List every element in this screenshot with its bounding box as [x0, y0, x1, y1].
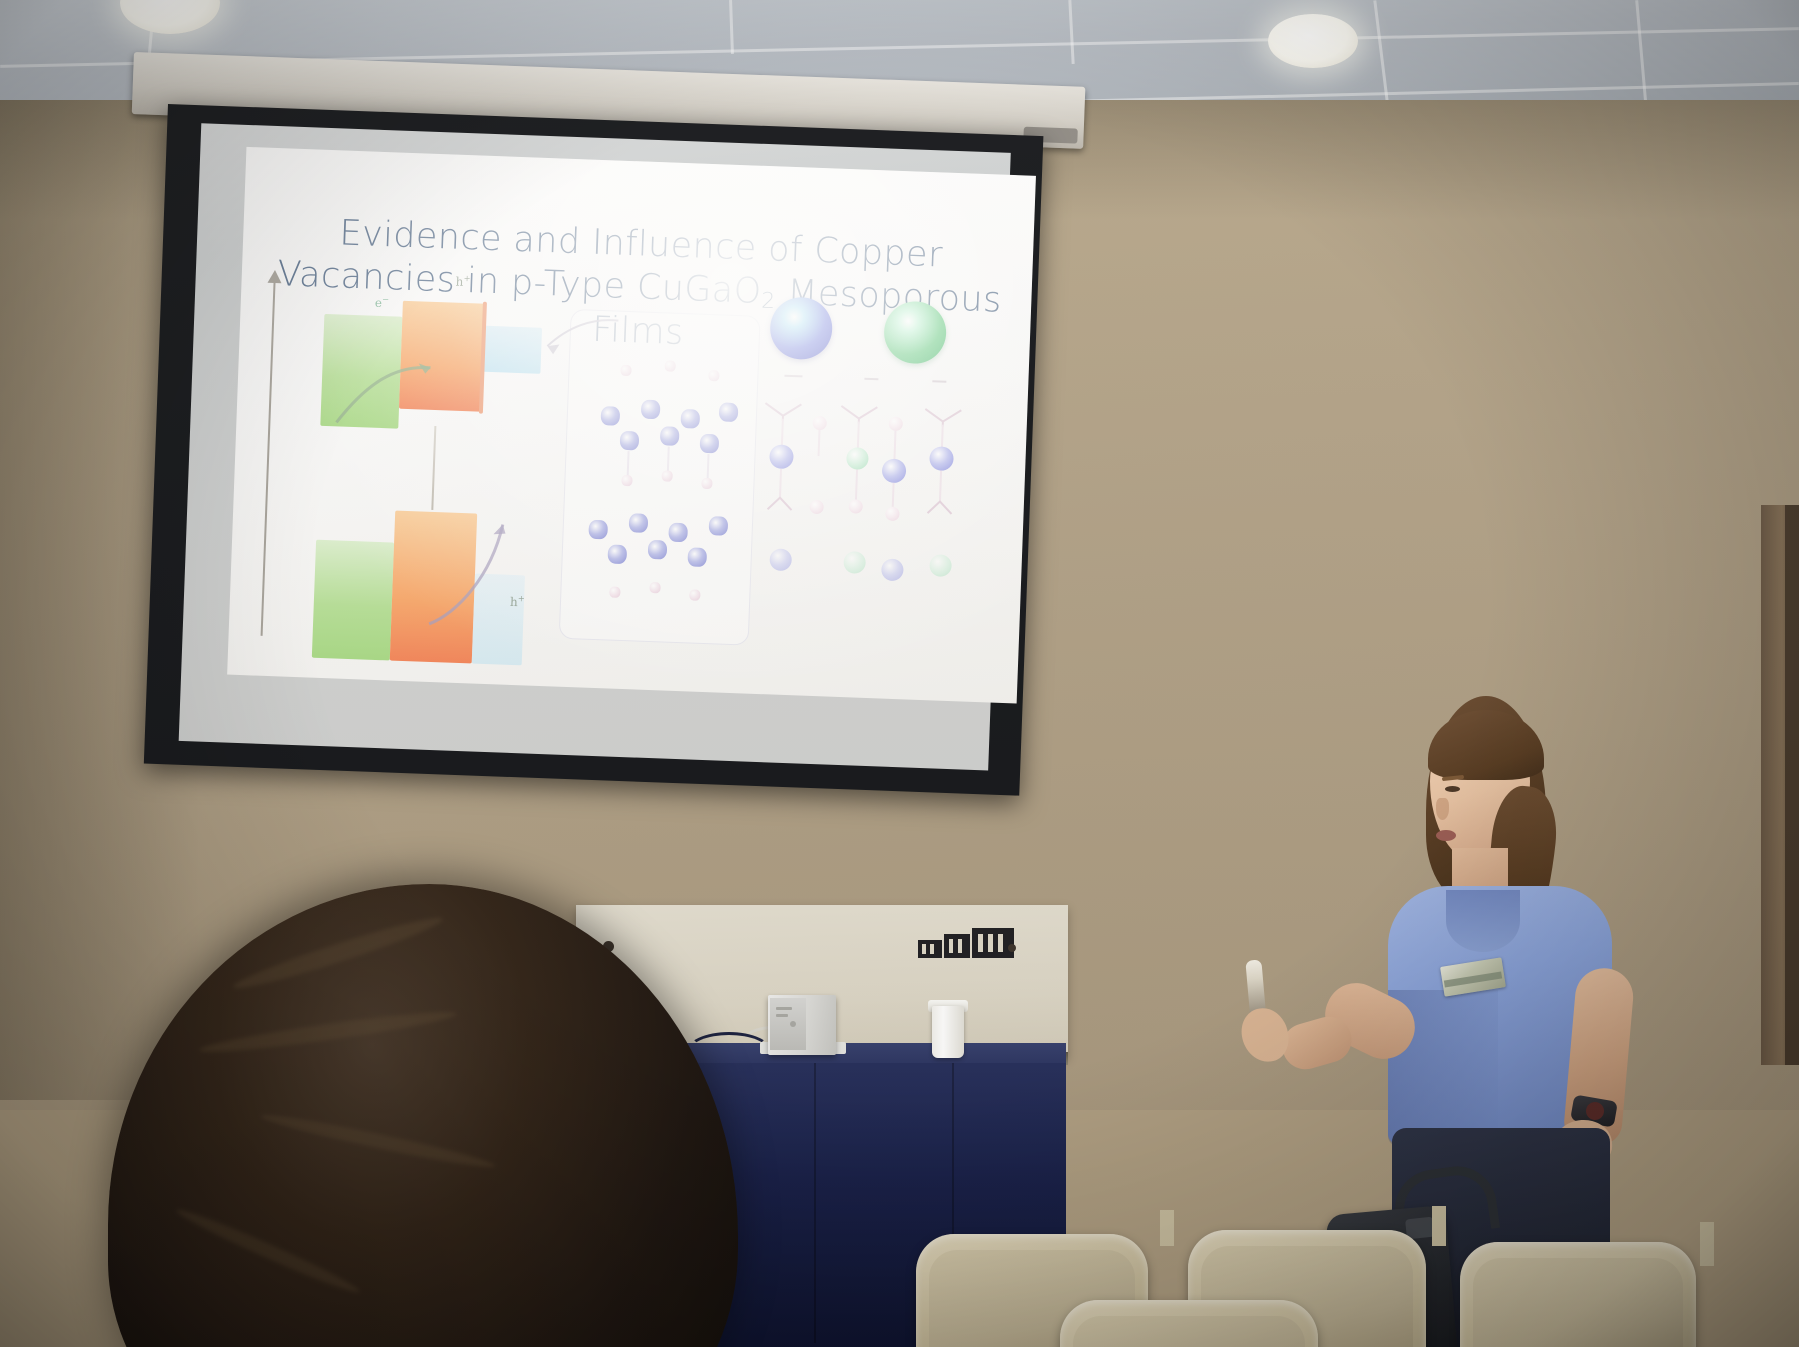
lattice-node-cu: [668, 523, 688, 543]
gallium-legend-sphere: [883, 300, 947, 364]
lattice-node-cu: [620, 431, 640, 451]
lattice-node-cu: [660, 426, 680, 446]
structure-bond: [893, 431, 896, 461]
structure-bond: [855, 469, 858, 499]
lattice-node-cu: [648, 540, 668, 560]
chair-cushion: [1073, 1316, 1305, 1347]
structure-atom-ga: [929, 554, 952, 577]
lattice-node-cu: [607, 544, 627, 564]
lattice-node-o: [701, 478, 712, 489]
ceiling-grid-line: [1068, 0, 1074, 64]
logo-window: [949, 939, 953, 953]
control-box[interactable]: [768, 995, 836, 1055]
crystal-lattice-inset: [559, 309, 761, 646]
structure-atom-cu: [882, 458, 907, 483]
callout-pointer-icon: [541, 312, 623, 361]
chair[interactable]: [1060, 1300, 1318, 1347]
structure-bond: [939, 471, 942, 501]
hole-label-bottom: h+: [510, 593, 525, 610]
lattice-node-cu: [601, 406, 621, 426]
table-skirt-fold: [814, 1063, 816, 1343]
ceiling-grid-line: [729, 0, 734, 54]
chair-cushion: [1473, 1258, 1683, 1347]
structure-bond: [892, 483, 895, 507]
presenter-hair-front: [1428, 710, 1544, 780]
hole-transfer-arrow-icon: [413, 507, 538, 641]
projection-screen-surface: Evidence and Influence of Copper Vacanci…: [179, 123, 1011, 770]
delafossite-structure-figure: [736, 285, 1027, 665]
hair-strand: [198, 1006, 458, 1058]
chair-leg: [1700, 1222, 1714, 1266]
energy-axis-arrow-icon: [268, 270, 282, 284]
hair-strand: [259, 1109, 497, 1173]
structure-atom-o: [889, 417, 904, 432]
structure-atom-cu: [881, 558, 904, 581]
projection-screen-frame: Evidence and Influence of Copper Vacanci…: [144, 104, 1044, 796]
lattice-node-cu: [641, 400, 661, 420]
photograph-scene: Evidence and Influence of Copper Vacanci…: [0, 0, 1799, 1347]
lattice-node-cu: [719, 402, 739, 422]
door-panel[interactable]: [1785, 505, 1799, 1065]
legend-dash: [932, 380, 946, 383]
structure-atom-o: [885, 507, 900, 522]
logo-block: [944, 934, 970, 958]
structure-atom-ga: [843, 551, 866, 574]
logo-window: [930, 944, 934, 954]
energy-axis-line: [261, 276, 276, 636]
control-box-vent: [776, 1014, 788, 1017]
lattice-node-cu: [687, 547, 707, 567]
hair-strand: [174, 1204, 362, 1298]
structure-bond: [779, 469, 782, 497]
ceiling-light-icon: [120, 0, 220, 34]
lattice-node-cu: [680, 409, 700, 429]
chair-leg: [1160, 1210, 1174, 1246]
structure-atom-o: [812, 416, 827, 431]
structure-atom-cu: [769, 548, 792, 571]
lattice-node-o: [665, 360, 676, 371]
hole-label-top: h+: [455, 273, 470, 290]
lattice-node-cu: [588, 520, 608, 540]
coffee-cup: [932, 1006, 964, 1058]
building-logo: [918, 926, 1014, 958]
lattice-node-o: [620, 365, 631, 376]
structure-bond: [941, 425, 944, 449]
control-box-port: [790, 1021, 796, 1027]
presenter-nose: [1436, 798, 1449, 820]
structure-atom-o: [809, 500, 824, 515]
band-block-green-lower: [312, 540, 394, 661]
structure-atom-cu: [769, 444, 794, 469]
structure-bond: [818, 430, 821, 456]
lattice-node-cu: [629, 513, 649, 533]
presenter-mouth: [1436, 830, 1456, 841]
logo-window: [988, 934, 993, 952]
structure-atom-o: [848, 499, 863, 514]
lattice-node-o: [689, 589, 700, 600]
oxygen-tripod-icon: [925, 498, 954, 517]
ceiling-grid-line: [1635, 0, 1648, 110]
legend-dash: [864, 378, 878, 381]
logo-window: [978, 934, 983, 952]
lattice-node-o: [621, 475, 632, 486]
energy-band-diagram: e− h+ h+: [236, 265, 540, 665]
lattice-node-o: [708, 370, 719, 381]
lattice-node-cu: [709, 516, 729, 536]
legend-dash: [784, 375, 802, 378]
control-box-vent: [776, 1007, 792, 1010]
logo-window: [958, 939, 962, 953]
structure-bond: [781, 419, 784, 447]
presenter-eye: [1445, 786, 1460, 792]
lattice-node-o: [662, 470, 673, 481]
electron-transfer-arrow-icon: [318, 304, 513, 439]
lattice-node-o: [609, 587, 620, 598]
control-box-face: [770, 998, 806, 1050]
lattice-node-o: [649, 582, 660, 593]
presentation-slide: Evidence and Influence of Copper Vacanci…: [227, 147, 1036, 704]
oxygen-tripod-icon: [765, 494, 794, 513]
chair-leg: [1432, 1206, 1446, 1246]
lattice-node-cu: [700, 434, 720, 454]
copper-legend-sphere: [769, 296, 833, 360]
logo-window: [922, 944, 926, 954]
chair[interactable]: [1460, 1242, 1696, 1347]
structure-bond: [857, 421, 860, 449]
presenter-vneck-collar: [1446, 890, 1520, 952]
logo-window: [998, 934, 1003, 952]
band-transition-arrow: [431, 426, 436, 510]
structure-atom-cu: [929, 446, 954, 471]
ceiling-light-icon: [1268, 14, 1358, 68]
whiteboard-magnet: [1008, 944, 1016, 952]
electron-label: e−: [375, 294, 390, 311]
structure-atom-ga: [846, 447, 869, 470]
